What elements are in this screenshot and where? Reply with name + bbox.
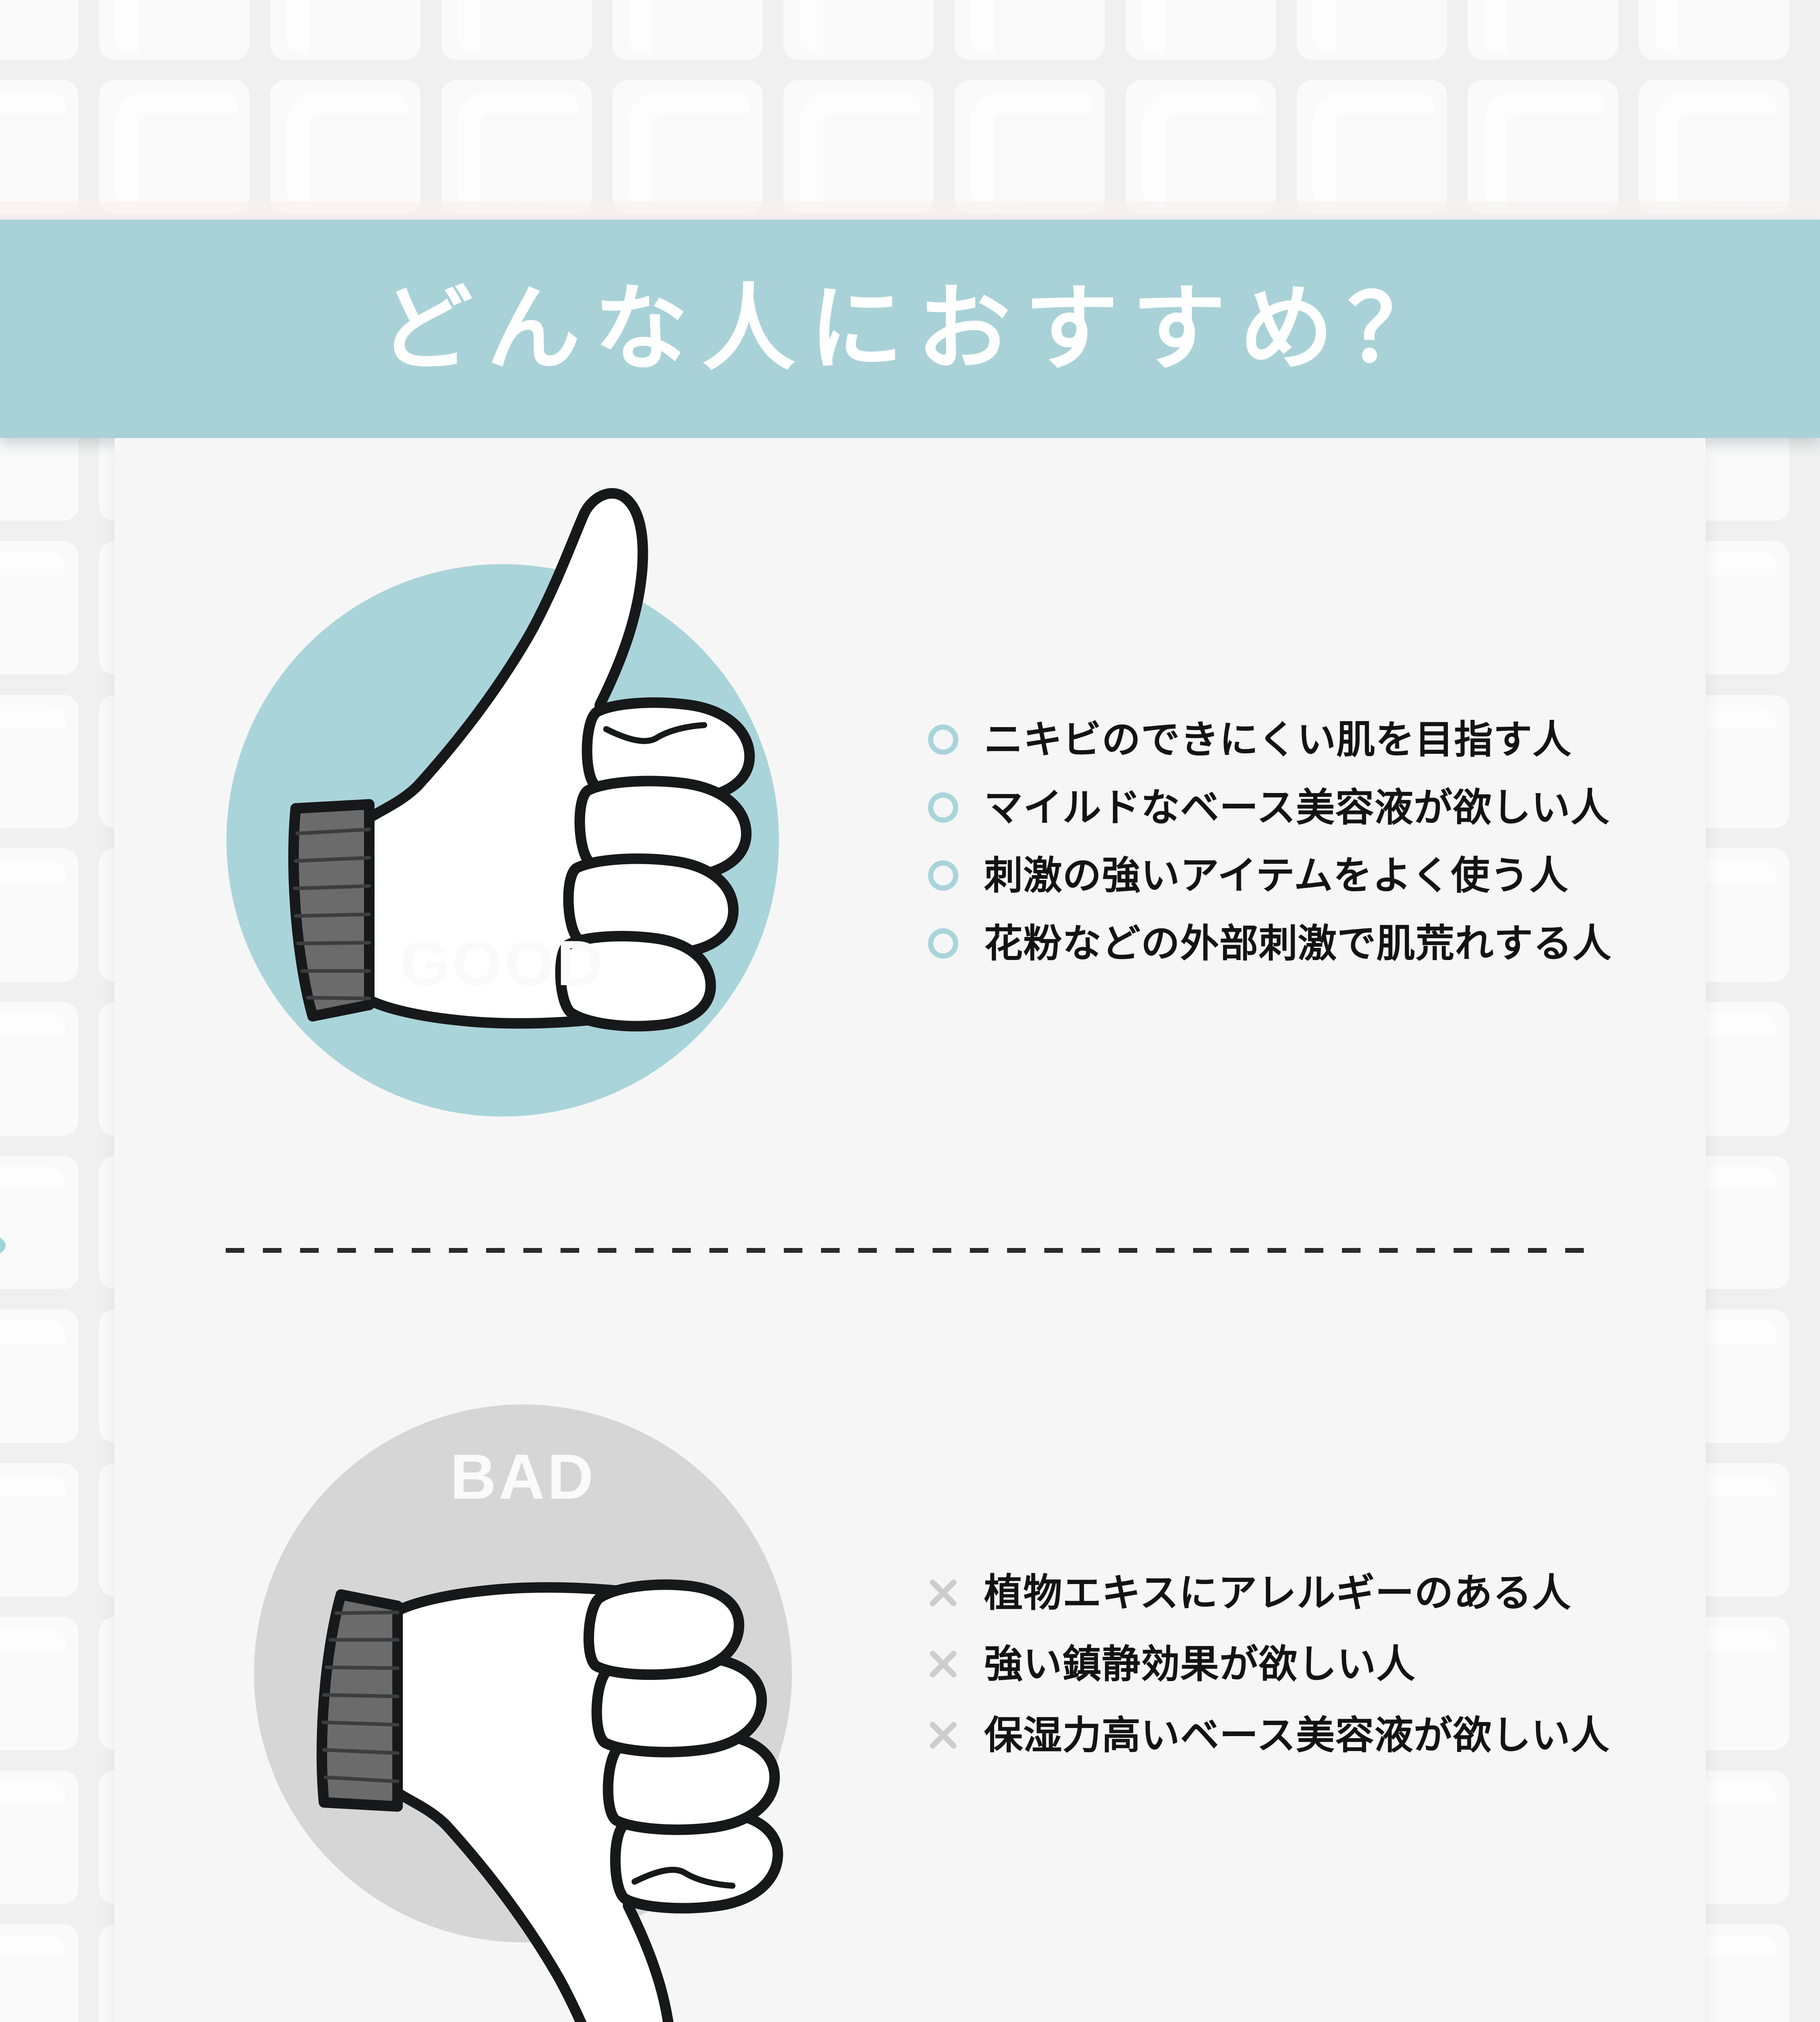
good-badge-label: GOOD bbox=[226, 931, 779, 995]
list-item[interactable]: 刺激の強いアイテムをよく使う人 bbox=[927, 849, 1612, 902]
list-item-label: マイルドなベース美容液が欲しい人 bbox=[984, 788, 1610, 827]
bg-tile bbox=[0, 1456, 90, 1610]
bad-list: 植物エキスにアレルギーのある人 強い鎮静効果が欲しい人 bbox=[927, 1566, 1610, 1762]
bg-tile bbox=[432, 0, 603, 73]
bg-tile bbox=[946, 0, 1117, 73]
bg-tile bbox=[0, 1917, 90, 2022]
circle-outline-icon bbox=[927, 724, 959, 755]
list-item[interactable]: 植物エキスにアレルギーのある人 bbox=[927, 1566, 1610, 1620]
content-card: GOOD ニキビのできにくい肌を目指す人 マイルドなベース美容液が欲しい人 bbox=[114, 438, 1706, 2022]
list-item[interactable]: 花粉などの外部刺激で肌荒れする人 bbox=[927, 917, 1612, 970]
list-item-label: ニキビのできにくい肌を目指す人 bbox=[984, 720, 1572, 759]
circle-outline-icon bbox=[927, 860, 959, 891]
circle-outline-icon bbox=[927, 792, 959, 823]
header-banner: どんな人におすすめ？ bbox=[0, 220, 1820, 438]
list-item[interactable]: ニキビのできにくい肌を目指す人 bbox=[927, 713, 1612, 766]
bg-tile bbox=[0, 1302, 90, 1456]
bg-tile bbox=[775, 0, 946, 73]
list-item-label: 花粉などの外部刺激で肌荒れする人 bbox=[984, 924, 1612, 963]
bg-tile bbox=[0, 534, 90, 687]
thumbs-down-icon bbox=[276, 1461, 855, 2022]
bg-tile bbox=[0, 841, 90, 995]
good-list: ニキビのできにくい肌を目指す人 マイルドなベース美容液が欲しい人 刺激の強いアイ… bbox=[927, 713, 1612, 970]
list-item-label: 刺激の強いアイテムをよく使う人 bbox=[984, 856, 1568, 895]
bg-tile bbox=[0, 995, 90, 1148]
circle-outline-icon bbox=[927, 928, 959, 959]
bg-tile bbox=[0, 1763, 90, 1917]
bg-tile bbox=[1459, 0, 1630, 73]
pink-accent-strip bbox=[0, 201, 1820, 221]
chevron-right-icon bbox=[0, 1185, 69, 1306]
bg-tile bbox=[1630, 0, 1801, 73]
list-item[interactable]: マイルドなベース美容液が欲しい人 bbox=[927, 781, 1612, 834]
bg-tile bbox=[261, 0, 432, 73]
page-title: どんな人におすすめ？ bbox=[0, 220, 1820, 438]
bg-tile bbox=[1288, 0, 1459, 73]
bad-section: BAD bbox=[114, 1287, 1706, 2022]
good-section: GOOD ニキビのできにくい肌を目指す人 マイルドなベース美容液が欲しい人 bbox=[114, 438, 1706, 1243]
bg-tile bbox=[90, 0, 261, 73]
list-item-label: 保湿力高いベース美容液が欲しい人 bbox=[984, 1716, 1610, 1755]
bg-tile bbox=[603, 0, 775, 73]
section-divider bbox=[226, 1248, 1595, 1253]
cross-icon bbox=[927, 1577, 959, 1609]
list-item-label: 強い鎮静効果が欲しい人 bbox=[984, 1645, 1416, 1684]
cross-icon bbox=[927, 1720, 959, 1751]
bg-tile bbox=[0, 0, 90, 73]
cross-icon bbox=[927, 1648, 959, 1680]
list-item[interactable]: 強い鎮静効果が欲しい人 bbox=[927, 1637, 1610, 1691]
bg-tile bbox=[0, 1610, 90, 1763]
list-item[interactable]: 保湿力高いベース美容液が欲しい人 bbox=[927, 1709, 1610, 1762]
list-item-label: 植物エキスにアレルギーのある人 bbox=[984, 1574, 1571, 1612]
thumbs-up-icon bbox=[248, 462, 826, 1150]
bg-tile bbox=[0, 687, 90, 841]
bg-tile bbox=[1117, 0, 1288, 73]
